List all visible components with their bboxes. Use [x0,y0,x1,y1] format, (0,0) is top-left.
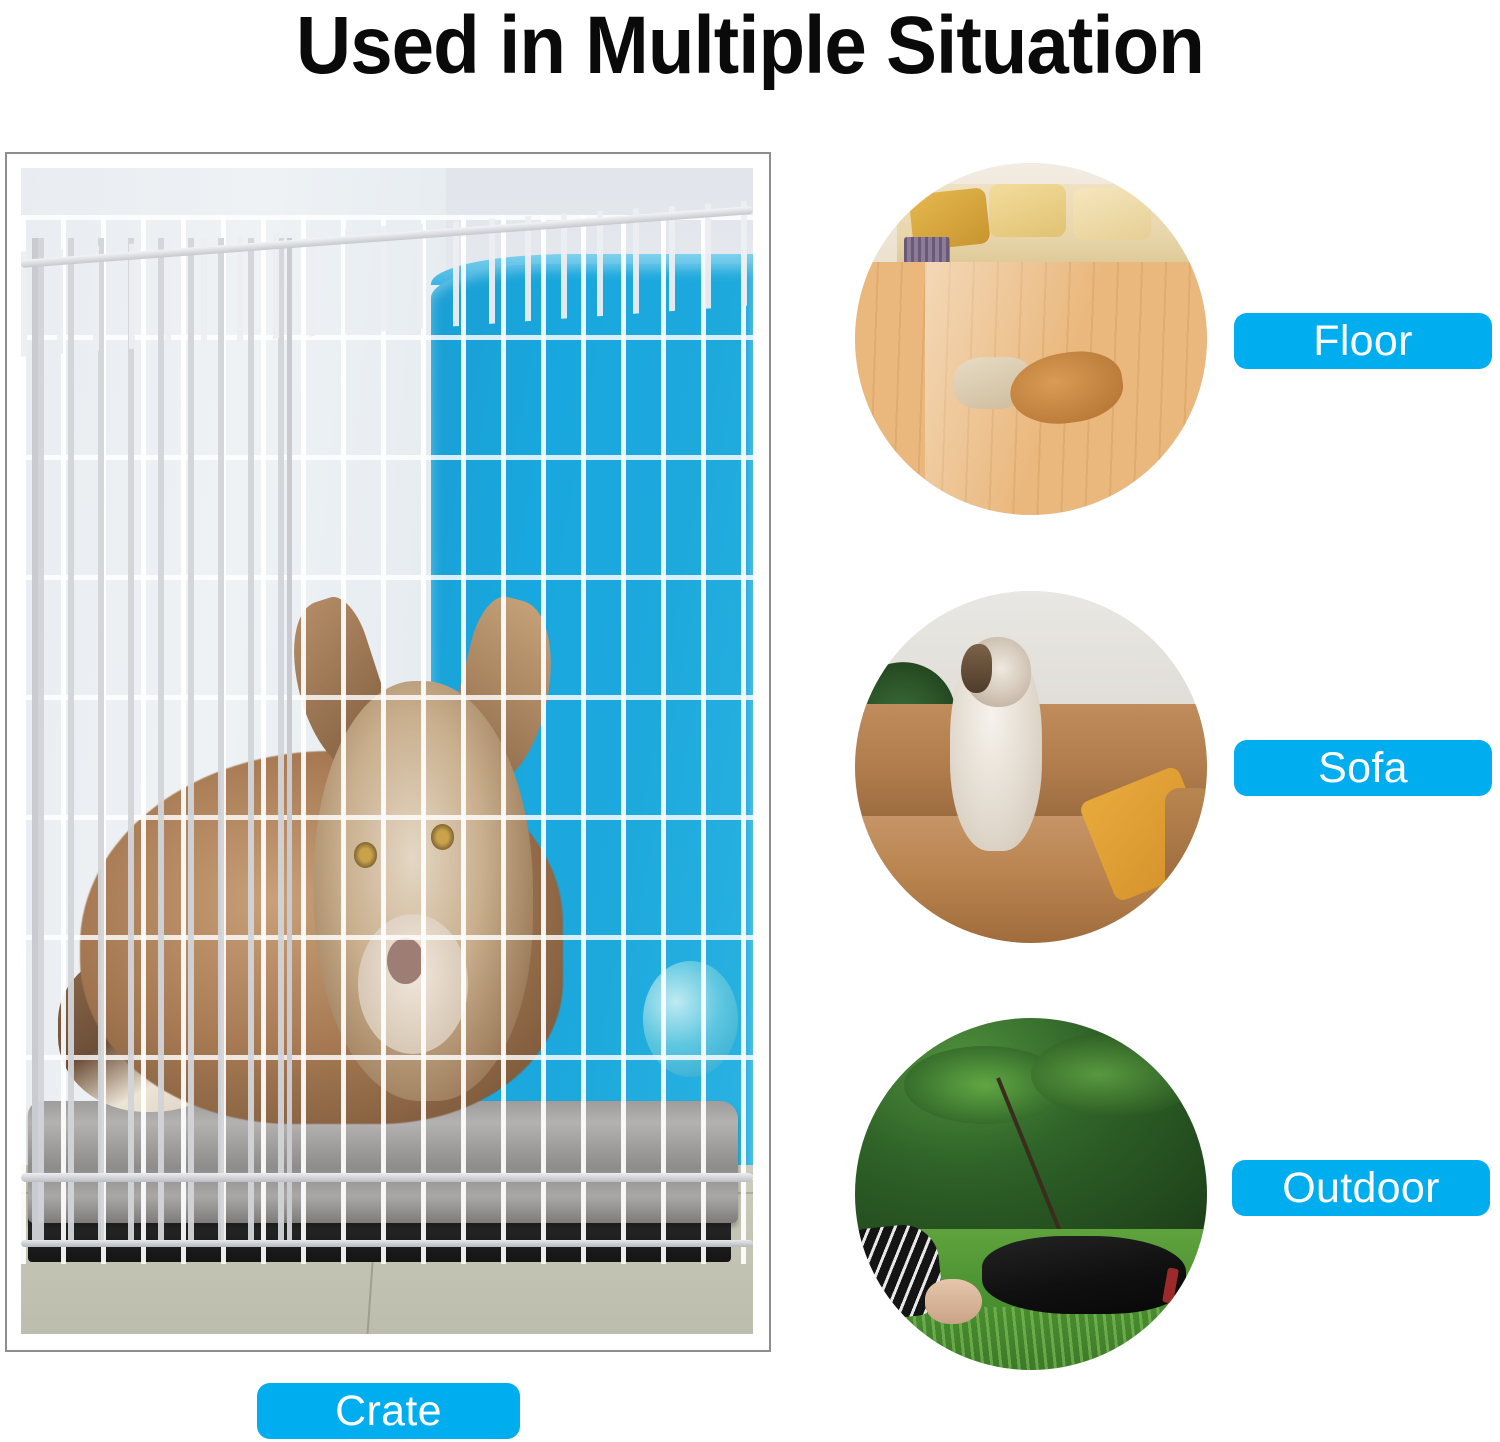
page-title: Used in Multiple Situation [53,0,1448,96]
dog-muzzle [358,914,468,1054]
situation-photo-sofa [855,591,1207,943]
dog-nose [387,938,424,985]
situation-badge-crate: Crate [257,1383,520,1439]
ball-toy [643,961,738,1078]
situation-badge-outdoor: Outdoor [1232,1160,1490,1216]
floor-scene-cushion-3 [1073,188,1150,241]
floor-scene-cushion-2 [989,184,1066,237]
outdoor-scene-dog [982,1236,1186,1313]
crate-photo-frame [5,152,771,1352]
situation-badge-floor: Floor [1234,313,1492,369]
dog-eye-left [354,842,377,868]
sofa-scene-dog-ear [961,644,993,693]
outdoor-scene-person-hand [925,1279,981,1325]
outdoor-scene-foliage-2 [1031,1032,1200,1116]
situation-photo-floor [855,163,1207,515]
situation-photo-outdoor [855,1018,1207,1370]
crate-photo-image [21,168,753,1334]
sofa-scene-armrest [1165,788,1207,915]
situation-badge-sofa: Sofa [1234,740,1492,796]
